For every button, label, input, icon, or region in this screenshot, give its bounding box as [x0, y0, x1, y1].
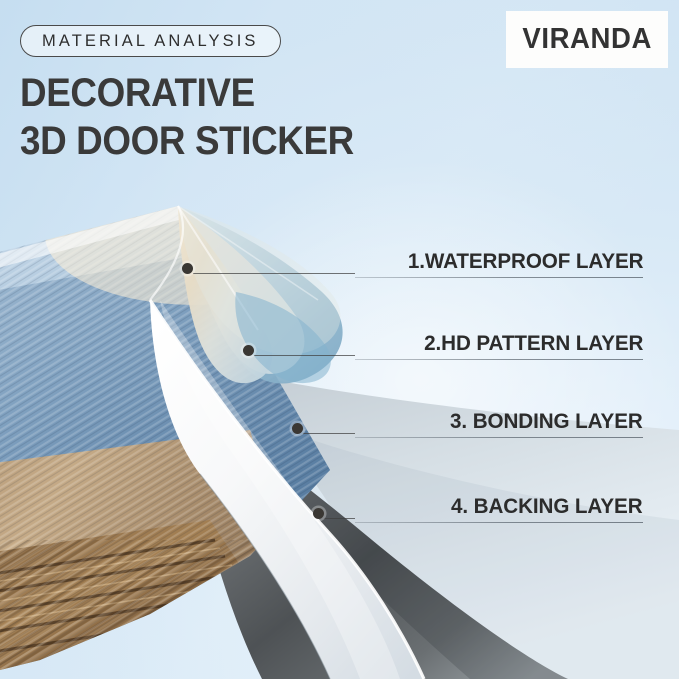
callout-leader-line [324, 518, 355, 519]
callout-layer-4: 4. BACKING LAYER [0, 0, 679, 679]
callout-anchor-dot [313, 508, 324, 519]
callout-label: 4. BACKING LAYER [451, 494, 643, 519]
callout-rule [355, 522, 643, 523]
poster-canvas: MATERIAL ANALYSIS DECORATIVE 3D DOOR STI… [0, 0, 679, 679]
